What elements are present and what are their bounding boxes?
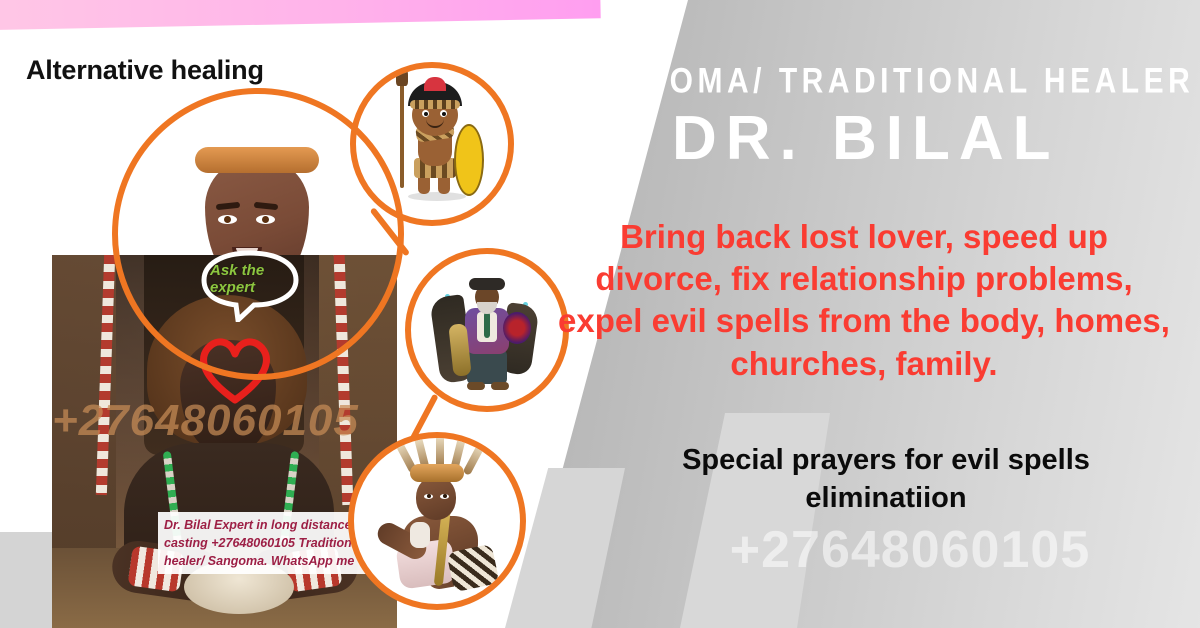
bottom-left-gray-block (0, 532, 56, 628)
prayers-text: Special prayers for evil spells eliminat… (600, 442, 1172, 517)
kicker-text: SANGOMA/ TRADITIONAL HEALER (565, 62, 1185, 102)
poster-canvas: Alternative healing (0, 0, 1200, 628)
circle-hero-outline (112, 88, 404, 380)
circle-warrior-crouching (348, 432, 526, 610)
circle-sangoma-cloaked (405, 248, 569, 412)
page-title: Alternative healing (26, 55, 264, 86)
pink-top-banner (0, 0, 601, 30)
photo-watermark-phone: +27648060105 (52, 396, 422, 446)
ghost-phone-number: +27648060105 (640, 520, 1180, 580)
services-text: Bring back lost lover, speed up divorce,… (558, 216, 1170, 385)
brand-name: DR. BILAL (672, 108, 1192, 170)
